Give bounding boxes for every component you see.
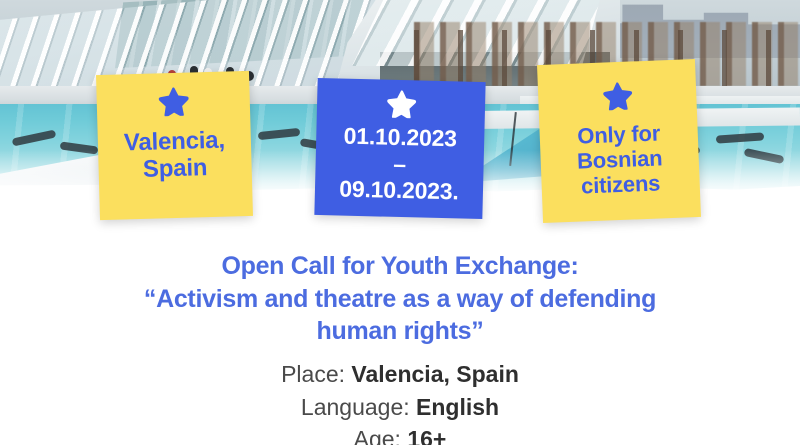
kayak xyxy=(12,130,57,147)
detail-label-age: Age: xyxy=(354,426,401,445)
star-icon xyxy=(386,90,416,119)
detail-row-age: Age: 16+ xyxy=(0,423,800,445)
card-eligibility[interactable]: Only for Bosnian citizens xyxy=(537,59,701,223)
kayak xyxy=(258,128,301,140)
card-eligibility-text: Only for Bosnian citizens xyxy=(576,120,664,198)
detail-value-age: 16+ xyxy=(407,426,446,445)
detail-label-language: Language: xyxy=(301,394,410,420)
headline-line-1: Open Call for Youth Exchange: xyxy=(0,250,800,283)
detail-row-language: Language: English xyxy=(0,391,800,424)
star-icon xyxy=(158,87,189,117)
card-dates[interactable]: 01.10.2023 – 09.10.2023. xyxy=(314,78,485,219)
card-dates-line-2: – xyxy=(340,149,460,179)
card-dates-line-1: 01.10.2023 xyxy=(340,123,460,153)
detail-value-place: Valencia, Spain xyxy=(351,361,518,387)
card-eligibility-line-2: Bosnian xyxy=(577,145,663,173)
card-place-text: Valencia, Spain xyxy=(124,127,226,185)
card-place-line-2: Spain xyxy=(124,154,226,184)
detail-label-place: Place: xyxy=(281,361,345,387)
headline-line-2: “Activism and theatre as a way of defend… xyxy=(0,283,800,316)
detail-list: Place: Valencia, Spain Language: English… xyxy=(0,358,800,445)
star-icon xyxy=(602,81,632,110)
card-place-line-1: Valencia, xyxy=(124,127,226,157)
page-title: Open Call for Youth Exchange: “Activism … xyxy=(0,250,800,348)
card-dates-text: 01.10.2023 – 09.10.2023. xyxy=(339,123,460,206)
card-eligibility-line-1: Only for xyxy=(576,120,662,148)
poster-canvas: Valencia, Spain 01.10.2023 – 09.10.2023.… xyxy=(0,0,800,445)
detail-value-language: English xyxy=(416,394,499,420)
headline-line-3: human rights” xyxy=(0,315,800,348)
detail-row-place: Place: Valencia, Spain xyxy=(0,358,800,391)
card-place[interactable]: Valencia, Spain xyxy=(96,71,253,220)
kayak xyxy=(716,132,764,143)
card-dates-line-3: 09.10.2023. xyxy=(339,176,459,206)
card-eligibility-line-3: citizens xyxy=(578,170,664,198)
